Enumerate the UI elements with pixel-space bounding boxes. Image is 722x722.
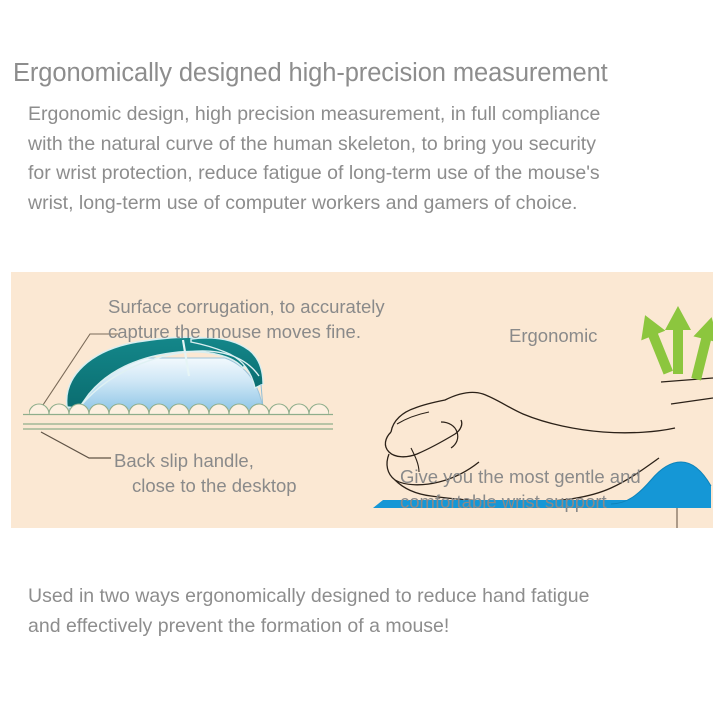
caption-wrist-line-1: Give you the most gentle and [400, 464, 641, 489]
ergonomic-arrows [633, 306, 713, 382]
leader-line-backslip [41, 432, 111, 458]
mouse-illustration [67, 337, 263, 409]
illustration-panel: Surface corrugation, to accurately captu… [11, 272, 713, 528]
caption-backslip-line-1: Back slip handle, [114, 448, 297, 473]
caption-wrist-line-2: comfortable wrist support [400, 489, 641, 514]
footer-line-2: and effectively prevent the formation of… [28, 612, 704, 642]
intro-line-3: for wrist protection, reduce fatigue of … [28, 159, 704, 189]
caption-corrugation-line-1: Surface corrugation, to accurately [108, 294, 385, 319]
footer-line-1: Used in two ways ergonomically designed … [28, 582, 704, 612]
caption-back-slip-handle: Back slip handle, close to the desktop [114, 448, 297, 498]
intro-paragraph: Ergonomic design, high precision measure… [28, 100, 704, 218]
intro-line-4: wrist, long-term use of computer workers… [28, 189, 704, 219]
label-ergonomic: Ergonomic [509, 323, 597, 348]
intro-line-2: with the natural curve of the human skel… [28, 130, 704, 160]
arrow-up-right-icon [684, 314, 713, 382]
caption-surface-corrugation: Surface corrugation, to accurately captu… [108, 294, 385, 344]
footer-paragraph: Used in two ways ergonomically designed … [28, 582, 704, 641]
intro-line-1: Ergonomic design, high precision measure… [28, 100, 704, 130]
caption-backslip-line-2: close to the desktop [114, 473, 297, 498]
caption-wrist-support: Give you the most gentle and comfortable… [400, 464, 641, 514]
caption-corrugation-line-2: capture the mouse moves fine. [108, 319, 385, 344]
page-title: Ergonomically designed high-precision me… [13, 57, 713, 89]
